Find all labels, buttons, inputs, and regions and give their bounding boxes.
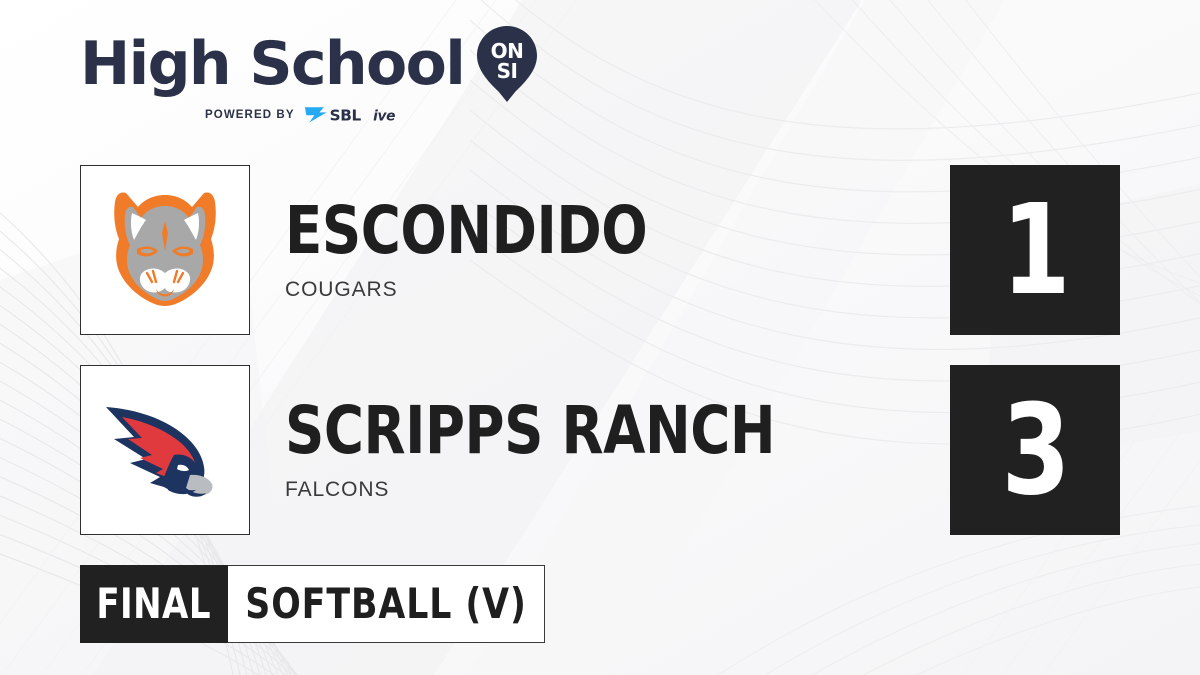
team-logo-box-scripps-ranch: [80, 365, 250, 535]
sblive-wordmark-part2: ive: [373, 108, 395, 124]
powered-by-label: POWERED BY: [205, 109, 295, 121]
brand-wordmark: High School ON SI: [80, 28, 520, 100]
team-row: SCRIPPS RANCH FALCONS 3: [0, 365, 1200, 535]
status-state-label: FINAL: [97, 583, 212, 625]
sblive-logo-icon: SBL ive: [302, 105, 440, 124]
status-sport-label: SOFTBALL (V): [245, 583, 527, 625]
cougar-head-logo-icon: [106, 189, 224, 311]
team-logo-box-escondido: [80, 165, 250, 335]
powered-by-row: POWERED BY SBL ive: [80, 105, 520, 124]
team-info-scripps-ranch: SCRIPPS RANCH FALCONS: [285, 365, 818, 535]
falcon-head-logo-icon: [100, 395, 230, 505]
on-si-pin-svg: ON SI: [476, 25, 538, 103]
score-value: 3: [1001, 388, 1068, 513]
on-si-pin-icon: ON SI: [476, 25, 538, 103]
team-name: SCRIPPS RANCH: [285, 398, 775, 464]
team-name: ESCONDIDO: [285, 198, 647, 264]
score-value: 1: [1001, 188, 1068, 313]
status-sport-block: SOFTBALL (V): [228, 565, 545, 643]
sblive-wordmark-part1: SBL: [329, 106, 361, 124]
score-box-scripps-ranch: 3: [950, 365, 1120, 535]
score-box-escondido: 1: [950, 165, 1120, 335]
brand-wordmark-text: High School: [80, 33, 464, 95]
brand-header: High School ON SI POWERED BY SBL ive: [80, 28, 520, 133]
team-mascot: COUGARS: [285, 278, 679, 302]
team-mascot: FALCONS: [285, 478, 818, 502]
scoreboard-graphic: High School ON SI POWERED BY SBL ive: [0, 0, 1200, 675]
status-state-block: FINAL: [80, 565, 228, 643]
team-info-escondido: ESCONDIDO COUGARS: [285, 165, 679, 335]
team-row: ESCONDIDO COUGARS 1: [0, 165, 1200, 335]
game-status-bar: FINAL SOFTBALL (V): [80, 565, 545, 643]
pin-label-si: SI: [497, 59, 518, 83]
